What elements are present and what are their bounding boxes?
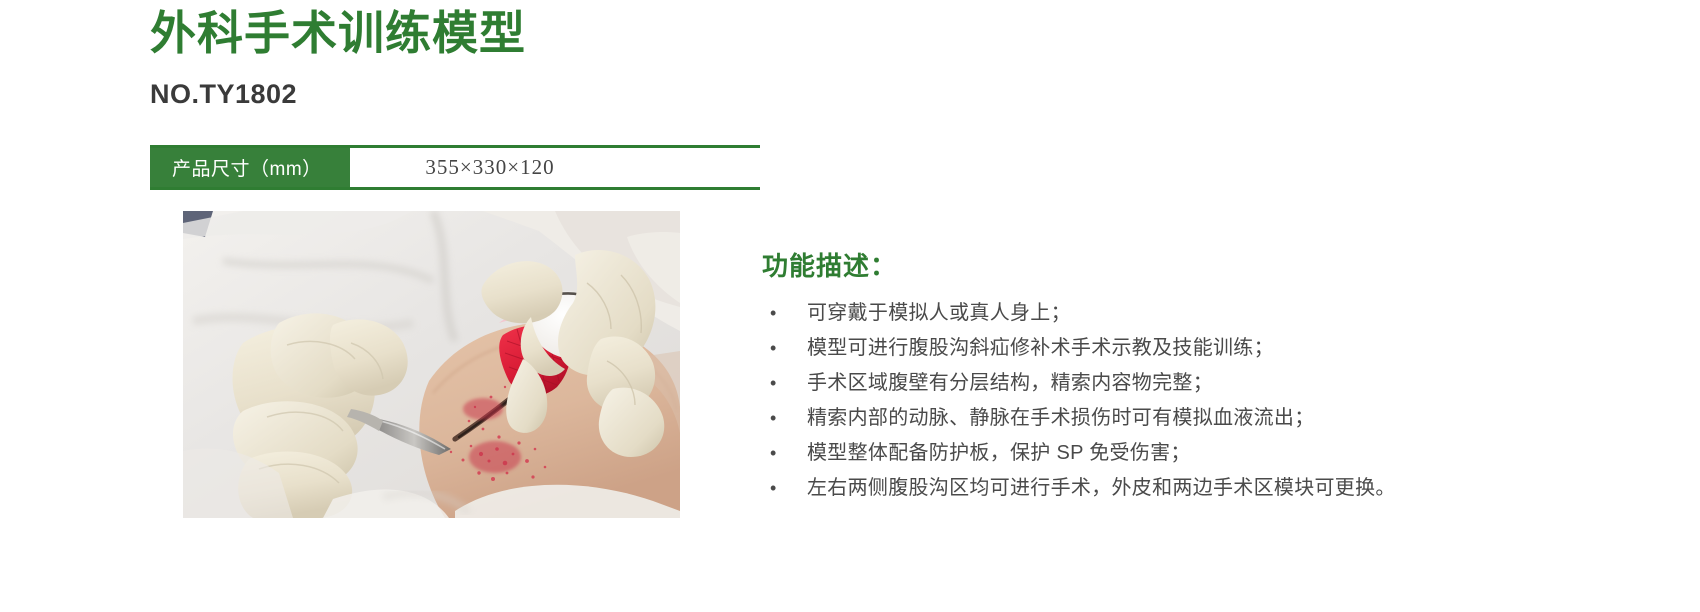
feature-text: 模型整体配备防护板，保护 SP 免受伤害； (807, 436, 1462, 471)
feature-text: 可穿戴于模拟人或真人身上； (807, 296, 1462, 331)
page-header: 外科手术训练模型 NO.TY1802 (150, 8, 1050, 110)
page-title: 外科手术训练模型 (150, 8, 1050, 60)
feature-text: 手术区域腹壁有分层结构，精索内容物完整； (807, 366, 1462, 401)
feature-description-block: 功能描述： • 可穿戴于模拟人或真人身上； • 模型可进行腹股沟斜疝修补术手术示… (762, 246, 1462, 506)
feature-text: 模型可进行腹股沟斜疝修补术手术示教及技能训练； (807, 331, 1462, 366)
product-photo (183, 211, 680, 518)
bullet-icon: • (762, 436, 807, 471)
bullet-icon: • (762, 331, 807, 366)
feature-text: 左右两侧腹股沟区均可进行手术，外皮和两边手术区模块可更换。 (807, 471, 1462, 506)
list-item: • 精索内部的动脉、静脉在手术损伤时可有模拟血液流出； (762, 401, 1462, 436)
list-item: • 可穿戴于模拟人或真人身上； (762, 296, 1462, 331)
surgical-training-photo-image (183, 211, 680, 518)
list-item: • 手术区域腹壁有分层结构，精索内容物完整； (762, 366, 1462, 401)
spec-label-product-size: 产品尺寸（mm） (150, 148, 350, 187)
product-code: NO.TY1802 (150, 78, 1050, 110)
list-item: • 模型可进行腹股沟斜疝修补术手术示教及技能训练； (762, 331, 1462, 366)
catalog-page: 外科手术训练模型 NO.TY1802 产品尺寸（mm） 355×330×120 (0, 0, 1700, 612)
table-row: 产品尺寸（mm） 355×330×120 (150, 148, 760, 187)
list-item: • 左右两侧腹股沟区均可进行手术，外皮和两边手术区模块可更换。 (762, 471, 1462, 506)
bullet-icon: • (762, 366, 807, 401)
feature-list: • 可穿戴于模拟人或真人身上； • 模型可进行腹股沟斜疝修补术手术示教及技能训练… (762, 296, 1462, 506)
spec-value-product-size: 355×330×120 (350, 148, 760, 187)
bullet-icon: • (762, 401, 807, 436)
bullet-icon: • (762, 471, 807, 506)
list-item: • 模型整体配备防护板，保护 SP 免受伤害； (762, 436, 1462, 471)
specification-table: 产品尺寸（mm） 355×330×120 (150, 145, 760, 190)
feature-text: 精索内部的动脉、静脉在手术损伤时可有模拟血液流出； (807, 401, 1462, 436)
bullet-icon: • (762, 296, 807, 331)
features-heading: 功能描述： (762, 246, 1462, 283)
